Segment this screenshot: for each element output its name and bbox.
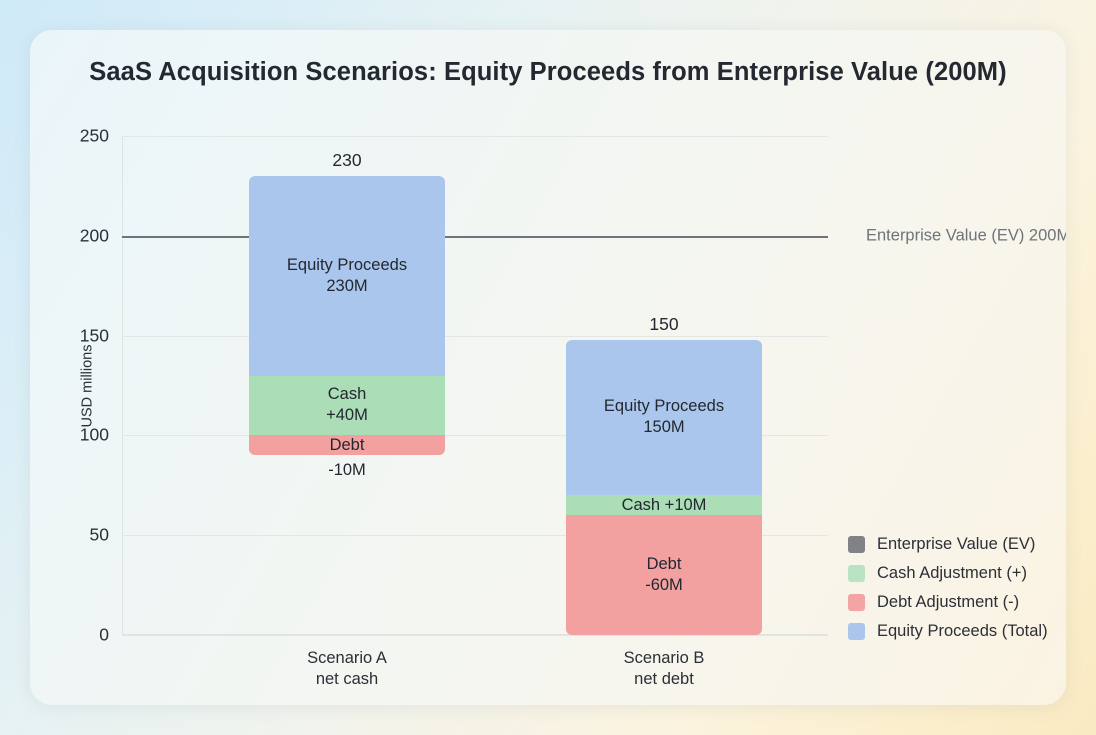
segment-scenario-b-equity[interactable]: Equity Proceeds150M bbox=[566, 340, 762, 496]
legend-label-debt-adjustment: Debt Adjustment (-) bbox=[877, 593, 1019, 612]
x-tick-scenario-a: Scenario Anet cash bbox=[249, 648, 445, 691]
x-tick-line-1: Scenario A bbox=[249, 648, 445, 669]
y-tick-100: 100 bbox=[80, 425, 109, 446]
y-tick-200: 200 bbox=[80, 225, 109, 246]
legend-label-cash-adjustment: Cash Adjustment (+) bbox=[877, 564, 1027, 583]
legend-label-equity-proceeds: Equity Proceeds (Total) bbox=[877, 622, 1048, 641]
legend-label-enterprise-value: Enterprise Value (EV) bbox=[877, 535, 1035, 554]
segment-value-equity: 230M bbox=[326, 276, 367, 297]
y-axis-label: USD millions bbox=[80, 344, 96, 427]
x-tick-line-2: net debt bbox=[566, 669, 762, 690]
segment-scenario-b-cash[interactable]: Cash +10M bbox=[566, 495, 762, 515]
legend-swatch-icon-debt-adjustment bbox=[848, 594, 865, 611]
bar-scenario-b[interactable]: Debt-60MCash +10MEquity Proceeds150M150 bbox=[566, 136, 762, 635]
y-tick-250: 250 bbox=[80, 126, 109, 147]
legend-item-cash-adjustment[interactable]: Cash Adjustment (+) bbox=[848, 559, 1048, 588]
bar-total-scenario-b: 150 bbox=[566, 314, 762, 335]
segment-label-equity: Equity Proceeds bbox=[604, 396, 724, 417]
legend-swatch-icon-cash-adjustment bbox=[848, 565, 865, 582]
legend-swatch-icon-enterprise-value bbox=[848, 536, 865, 553]
enterprise-value-annotation: Enterprise Value (EV) 200M bbox=[866, 226, 1066, 245]
bar-total-scenario-a: 230 bbox=[249, 150, 445, 171]
segment-value-debt: -60M bbox=[645, 575, 683, 596]
y-tick-150: 150 bbox=[80, 325, 109, 346]
legend-item-enterprise-value[interactable]: Enterprise Value (EV) bbox=[848, 530, 1048, 559]
x-tick-line-1: Scenario B bbox=[566, 648, 762, 669]
y-tick-50: 50 bbox=[90, 525, 109, 546]
y-tick-0: 0 bbox=[99, 625, 109, 646]
segment-scenario-a-cash[interactable]: Cash+40M bbox=[249, 376, 445, 436]
segment-label-equity: Equity Proceeds bbox=[287, 255, 407, 276]
segment-label-cash: Cash +10M bbox=[622, 495, 707, 516]
x-tick-scenario-b: Scenario Bnet debt bbox=[566, 648, 762, 691]
segment-label-debt: Debt bbox=[647, 554, 682, 575]
segment-value-equity: 150M bbox=[643, 417, 684, 438]
y-axis-line bbox=[122, 136, 123, 635]
x-tick-line-2: net cash bbox=[249, 669, 445, 690]
gridline-0 bbox=[122, 635, 828, 636]
segment-scenario-b-debt[interactable]: Debt-60M bbox=[566, 515, 762, 635]
segment-label-cash: Cash bbox=[328, 384, 367, 405]
bar-scenario-a[interactable]: -10MDebtCash+40MEquity Proceeds230M230 bbox=[249, 136, 445, 635]
legend-item-debt-adjustment[interactable]: Debt Adjustment (-) bbox=[848, 588, 1048, 617]
legend-item-equity-proceeds[interactable]: Equity Proceeds (Total) bbox=[848, 617, 1048, 646]
chart-card: SaaS Acquisition Scenarios: Equity Proce… bbox=[30, 30, 1066, 705]
page-title: SaaS Acquisition Scenarios: Equity Proce… bbox=[30, 58, 1066, 87]
segment-value-cash: +40M bbox=[326, 405, 368, 426]
chart-legend: Enterprise Value (EV)Cash Adjustment (+)… bbox=[848, 530, 1048, 646]
plot-area: USD millions 050100150200250 Enterprise … bbox=[122, 136, 828, 635]
legend-swatch-icon-equity-proceeds bbox=[848, 623, 865, 640]
segment-label-debt: Debt bbox=[330, 435, 365, 456]
segment-value-scenario-a-debt: -10M bbox=[249, 461, 445, 480]
segment-scenario-a-equity[interactable]: Equity Proceeds230M bbox=[249, 176, 445, 376]
segment-scenario-a-debt[interactable]: Debt bbox=[249, 435, 445, 455]
